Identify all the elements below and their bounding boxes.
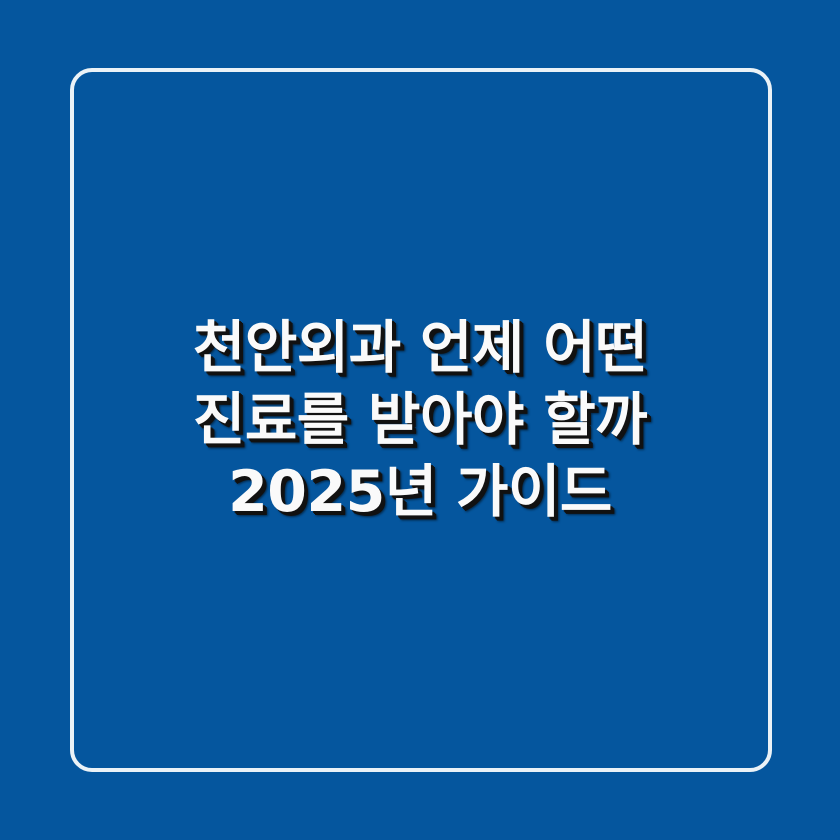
headline-block: 천안외과 언제 어떤 진료를 받아야 할까 2025년 가이드: [0, 0, 840, 840]
headline-line-1: 천안외과 언제 어떤: [193, 312, 647, 384]
headline-line-3: 2025년 가이드: [228, 456, 612, 528]
headline-line-2: 진료를 받아야 할까: [193, 384, 647, 456]
poster-card: 천안외과 언제 어떤 진료를 받아야 할까 2025년 가이드: [0, 0, 840, 840]
